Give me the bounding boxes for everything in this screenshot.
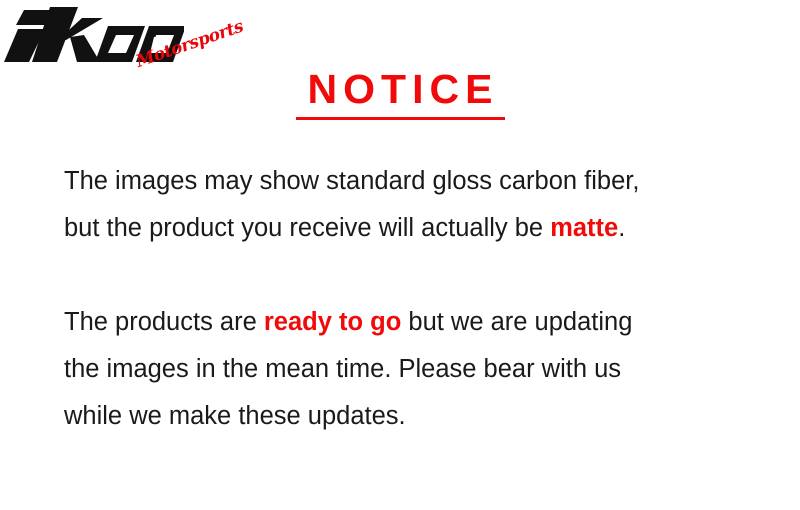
notice-line: The images may show standard gloss carbo… xyxy=(64,158,764,205)
text-run: . xyxy=(618,214,625,242)
notice-line: The products are ready to go but we are … xyxy=(64,299,764,346)
highlight-matte: matte xyxy=(550,214,618,242)
text-run: the images in the mean time. Please bear… xyxy=(64,355,621,383)
text-run: but the product you receive will actuall… xyxy=(64,214,550,242)
text-run: while we make these updates. xyxy=(64,402,406,430)
paragraph-matte: The images may show standard gloss carbo… xyxy=(64,158,764,252)
text-run: The products are xyxy=(64,308,264,336)
text-run: but we are updating xyxy=(401,308,632,336)
paragraph-ready: The products are ready to go but we are … xyxy=(64,299,764,440)
notice-line: the images in the mean time. Please bear… xyxy=(64,346,764,393)
highlight-ready-to-go: ready to go xyxy=(264,308,401,336)
notice-body: The images may show standard gloss carbo… xyxy=(64,158,764,440)
notice-line: while we make these updates. xyxy=(64,393,764,440)
notice-heading-block: NOTICE xyxy=(0,66,800,120)
notice-line: but the product you receive will actuall… xyxy=(64,205,764,252)
text-run: The images may show standard gloss carbo… xyxy=(64,167,639,195)
title-underline-rule xyxy=(296,117,505,120)
page-title: NOTICE xyxy=(302,66,499,112)
